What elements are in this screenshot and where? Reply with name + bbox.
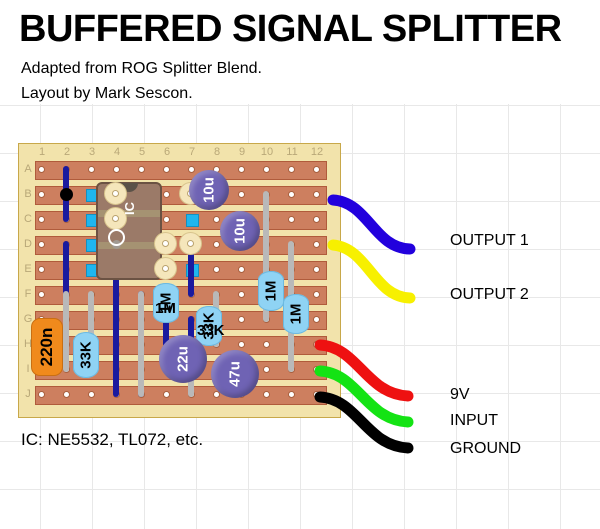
component-value: 22u: [175, 346, 192, 372]
component-r-33k-col3: 33K: [73, 332, 99, 378]
component-r-1m-col10: 1M: [258, 271, 284, 311]
subtitle-line-2: Layout by Mark Sescon.: [21, 85, 193, 103]
solder-pad-D6: [154, 232, 177, 255]
wire-label-power-9v: 9V: [450, 386, 470, 404]
component-label-1: 1M: [155, 300, 176, 317]
solder-pad-D7: [179, 232, 202, 255]
component-r-1m-col11: 1M: [283, 294, 309, 334]
component-c-10u-mid: 10u: [220, 211, 260, 251]
component-value: 1M: [288, 304, 305, 325]
component-label-2: 33K: [197, 322, 225, 339]
wire-label-output-1: OUTPUT 1: [450, 232, 529, 250]
component-c-47u: 47u: [211, 350, 259, 398]
ic-pin1-ring: [108, 229, 125, 246]
wire-label-input: INPUT: [450, 412, 498, 430]
ic-chip-label: IC: [122, 202, 137, 215]
component-c-220n: 220n: [31, 318, 63, 376]
component-value: 33K: [78, 341, 95, 369]
ic-note: IC: NE5532, TL072, etc.: [21, 430, 203, 450]
jumper-wire-6: [113, 266, 119, 397]
component-value: 47u: [227, 361, 244, 387]
component-value: 220n: [37, 328, 57, 367]
jumper-wire-2: [63, 241, 69, 297]
page-title: BUFFERED SIGNAL SPLITTER: [19, 8, 562, 51]
component-c-10u-top: 10u: [189, 170, 229, 210]
solder-pad-E6: [154, 257, 177, 280]
lead-c-22u: [138, 341, 144, 397]
lead-r-1m-col5: [138, 291, 144, 347]
wire-label-ground: GROUND: [450, 440, 521, 458]
component-value: 10u: [201, 177, 218, 203]
subtitle-line-1: Adapted from ROG Splitter Blend.: [21, 60, 262, 78]
lead-c-220n: [63, 291, 69, 372]
link-dot: [60, 188, 73, 201]
wire-label-output-2: OUTPUT 2: [450, 286, 529, 304]
component-c-22u: 22u: [159, 335, 207, 383]
component-value: 10u: [232, 218, 249, 244]
component-value: 1M: [263, 281, 280, 302]
